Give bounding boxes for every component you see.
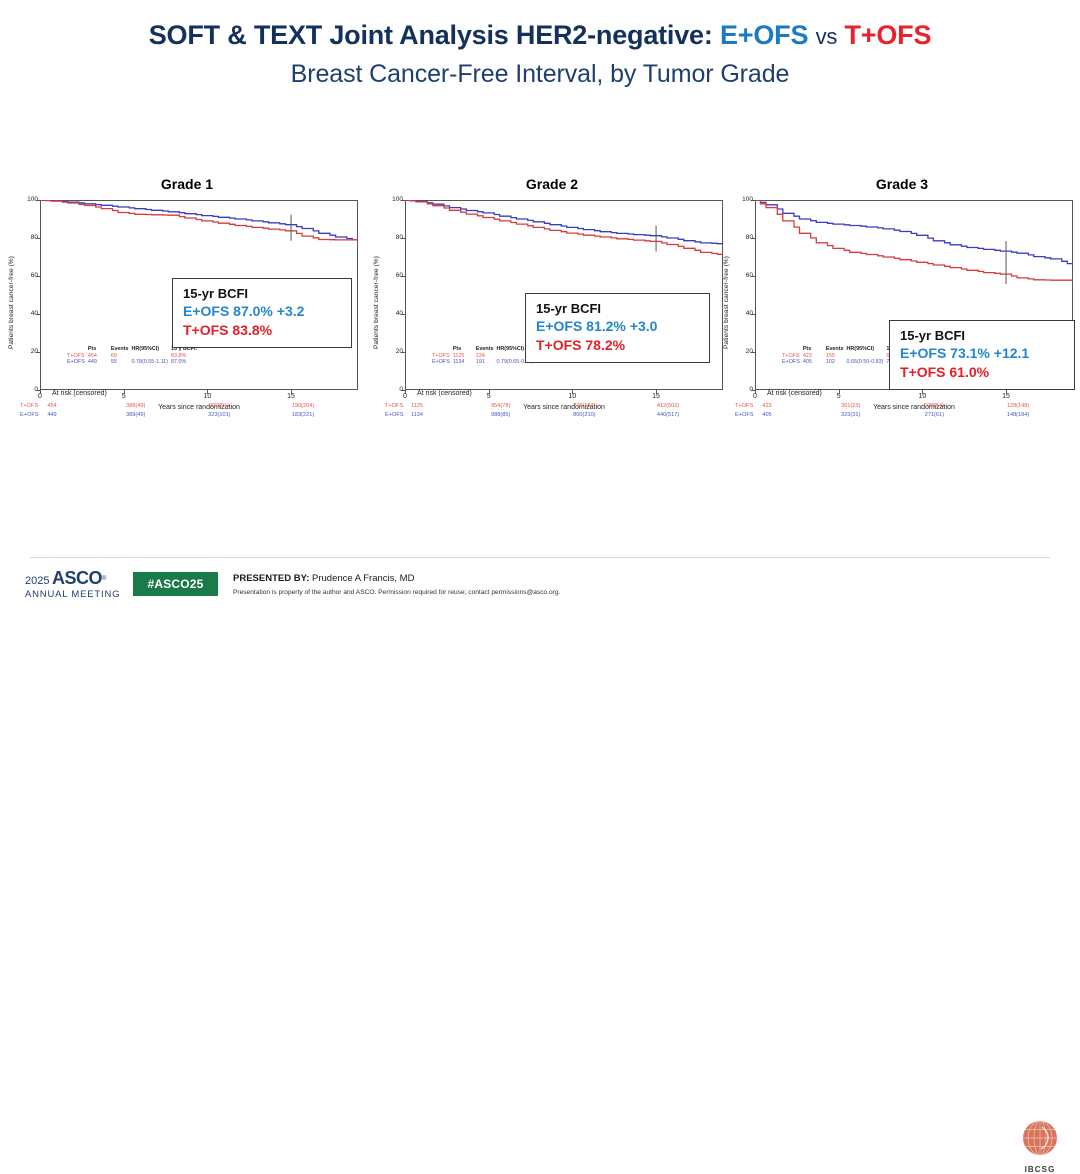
at-risk-value: 454 [47,403,56,409]
y-tick-mark [401,238,405,239]
bcfi-heading: 15-yr BCFI [183,285,341,302]
y-tick-mark [751,276,755,277]
at-risk-row-label: E+OFS [20,412,39,418]
at-risk-value: 388(49) [126,403,145,409]
at-risk-value: 323(101) [208,412,230,418]
bcfi-heading: 15-yr BCFI [900,327,1064,344]
at-risk-row-tofs: T+OFS1125954(78)779(187)412(502) [377,403,727,412]
km-curve-t-ofs [755,200,1073,280]
y-tick-label: 40 [377,310,403,317]
panel-title: Grade 2 [377,176,727,192]
stats-header-events: Events [111,346,132,353]
stats-header-hr: HR(95%CI) [132,346,171,353]
stats-tofs-bcfi: 83.8% [171,353,200,360]
stats-eofs-hr: 0.78(0.55-1.11) [132,359,171,366]
at-risk-value: 779(187) [573,403,595,409]
panel-title: Grade 3 [727,176,1077,192]
y-tick-label: 60 [377,272,403,279]
x-tick-label: 5 [487,393,491,400]
permission-notice: Presentation is property of the author a… [233,587,853,598]
at-risk-value: 271(61) [925,412,944,418]
stats-eofs-pts: 1134 [453,359,476,366]
x-tick-mark [40,390,41,394]
y-tick-label: 40 [12,310,38,317]
at-risk-value: 412(502) [657,403,679,409]
at-risk-value: 301(23) [841,403,860,409]
bcfi-callout-grade-1: 15-yr BCFI E+OFS 87.0% +3.2 T+OFS 83.8% [172,278,352,348]
y-tick-label: 100 [12,196,38,203]
x-tick-mark [489,390,490,394]
stats-header-events: Events [476,346,497,353]
x-tick-mark [1006,390,1007,394]
at-risk-value: 183(221) [292,412,314,418]
stats-eofs-pts: 449 [88,359,111,366]
presented-by-block: PRESENTED BY: Prudence A Francis, MD Pre… [233,572,853,598]
at-risk-value: 1134 [411,412,423,418]
at-risk-row-eofs: E+OFS449389(49)323(101)183(221) [12,412,362,421]
y-tick-mark [751,314,755,315]
x-tick-mark [124,390,125,394]
at-risk-value: 323(31) [841,412,860,418]
x-tick-label: 15 [287,393,295,400]
x-tick-label: 10 [918,393,926,400]
km-curve-e-ofs [755,200,1073,264]
chart-panel-grade-3: Grade 3 Patients breast cancer-free (%) … [727,176,1077,466]
at-risk-value: 405 [762,412,771,418]
y-tick-mark [36,200,40,201]
at-risk-value: 423 [762,403,771,409]
stats-row-label-tofs: T+OFS [432,353,453,360]
y-axis-label: Patients breast cancer-free (%) [8,200,20,405]
x-tick-mark [405,390,406,394]
at-risk-value: 322(91) [210,403,229,409]
bcfi-eofs-line: E+OFS 73.1% +12.1 [900,344,1064,363]
y-tick-label: 0 [377,386,403,393]
at-risk-value: 800(210) [573,412,595,418]
stats-tofs-pts: 423 [803,353,826,360]
y-tick-label: 0 [727,386,753,393]
y-axis-label: Patients breast cancer-free (%) [373,200,385,405]
hashtag-badge: #ASCO25 [133,572,218,596]
title-vs-label: vs [816,24,838,49]
plot-area: Patients breast cancer-free (%) Pts Even… [727,200,1077,405]
x-tick-label: 15 [1002,393,1010,400]
stats-eofs-events: 55 [111,359,132,366]
bcfi-tofs-line: T+OFS 61.0% [900,363,1064,382]
slide-footer: 2025 ASCO® ANNUAL MEETING #ASCO25 PRESEN… [0,566,1080,608]
x-tick-label: 5 [837,393,841,400]
stats-tofs-events: 69 [111,353,132,360]
at-risk-row-eofs: E+OFS1134988(85)800(210)440(517) [377,412,727,421]
y-tick-mark [401,352,405,353]
x-tick-mark [207,390,208,394]
y-tick-mark [751,200,755,201]
y-tick-label: 0 [12,386,38,393]
bcfi-tofs-line: T+OFS 83.8% [183,321,341,340]
stats-eofs-events: 191 [476,359,497,366]
x-tick-label: 10 [203,393,211,400]
x-tick-label: 10 [568,393,576,400]
asco-wordmark: ASCO [52,568,102,588]
at-risk-row-tofs: T+OFS454388(49)322(91)190(204) [12,403,362,412]
x-tick-label: 0 [38,393,42,400]
stats-tofs-events: 155 [826,353,847,360]
x-tick-label: 0 [403,393,407,400]
bcfi-heading: 15-yr BCFI [536,300,699,317]
plot-area: Patients breast cancer-free (%) Pts Even… [12,200,362,405]
asco-subtitle: ANNUAL MEETING [25,589,145,600]
at-risk-value: 440(517) [657,412,679,418]
stats-eofs-events: 102 [826,359,847,366]
at-risk-value: 988(85) [491,412,510,418]
x-tick-mark [839,390,840,394]
bcfi-eofs-line: E+OFS 87.0% +3.2 [183,302,341,321]
at-risk-row-label: E+OFS [735,412,754,418]
y-tick-label: 60 [12,272,38,279]
stats-table-grade-1: Pts Events HR(95%CI) 15 y BCFI: T+OFS 45… [67,346,200,366]
at-risk-title: At risk (censored) [52,390,107,397]
stats-row-label-eofs: E+OFS [67,359,88,366]
at-risk-value: 449 [47,412,56,418]
at-risk-row-eofs: E+OFS405323(31)271(61)148(184) [727,412,1077,421]
footer-divider [30,557,1050,558]
x-tick-label: 15 [652,393,660,400]
y-tick-label: 80 [377,234,403,241]
title-tofs-label: T+OFS [844,20,931,50]
globe-icon [1020,1118,1060,1158]
presenter-name: Prudence A Francis, MD [312,573,414,584]
y-tick-mark [36,238,40,239]
stats-eofs-bcfi: 87.0% [171,359,200,366]
at-risk-title: At risk (censored) [767,390,822,397]
stats-tofs-events: 234 [476,353,497,360]
title-main-text: SOFT & TEXT Joint Analysis HER2-negative… [149,20,713,50]
y-tick-label: 20 [12,348,38,355]
y-tick-mark [36,352,40,353]
asco-year: 2025 [25,575,49,587]
stats-row-label-tofs: T+OFS [782,353,803,360]
km-curve-t-ofs [40,200,358,240]
ibcsg-wordmark: IBCSG [1012,1165,1068,1174]
trademark-icon: ® [102,576,106,582]
bcfi-callout-grade-2: 15-yr BCFI E+OFS 81.2% +3.0 T+OFS 78.2% [525,293,710,363]
panel-title: Grade 1 [12,176,362,192]
stats-header-events: Events [826,346,847,353]
y-tick-mark [401,200,405,201]
at-risk-value: 128(148) [1007,403,1029,409]
stats-header-pts: Pts [453,346,476,353]
y-tick-mark [751,352,755,353]
at-risk-value: 954(78) [491,403,510,409]
y-tick-mark [36,276,40,277]
y-tick-label: 20 [727,348,753,355]
at-risk-row-label: T+OFS [735,403,753,409]
bcfi-callout-grade-3: 15-yr BCFI E+OFS 73.1% +12.1 T+OFS 61.0% [889,320,1075,390]
title-line-1: SOFT & TEXT Joint Analysis HER2-negative… [0,20,1080,51]
at-risk-value: 1125 [411,403,423,409]
stats-eofs-pts: 405 [803,359,826,366]
at-risk-row-label: T+OFS [20,403,38,409]
at-risk-row-label: T+OFS [385,403,403,409]
bcfi-eofs-line: E+OFS 81.2% +3.0 [536,317,699,336]
y-tick-mark [401,276,405,277]
x-tick-mark [572,390,573,394]
x-tick-mark [656,390,657,394]
x-tick-label: 5 [122,393,126,400]
chart-panel-grade-1: Grade 1 Patients breast cancer-free (%) … [12,176,362,466]
stats-header-hr: HR(95%CI) [847,346,887,353]
x-tick-mark [922,390,923,394]
y-tick-label: 80 [727,234,753,241]
y-tick-label: 20 [377,348,403,355]
presented-by-label: PRESENTED BY: [233,573,309,584]
at-risk-value: 238(54) [925,403,944,409]
at-risk-row-tofs: T+OFS423301(23)238(54)128(148) [727,403,1077,412]
bcfi-tofs-line: T+OFS 78.2% [536,336,699,355]
y-axis-label: Patients breast cancer-free (%) [723,200,735,405]
title-line-2: Breast Cancer-Free Interval, by Tumor Gr… [0,60,1080,89]
stats-header-pts: Pts [88,346,111,353]
ibcsg-logo: IBCSG [1012,1118,1068,1174]
asco-logo: 2025 ASCO® ANNUAL MEETING [25,571,145,600]
plot-area: Patients breast cancer-free (%) Pts Even… [377,200,727,405]
x-tick-label: 0 [753,393,757,400]
slide-title-block: SOFT & TEXT Joint Analysis HER2-negative… [0,20,1080,89]
y-tick-label: 100 [727,196,753,203]
at-risk-title: At risk (censored) [417,390,472,397]
y-tick-label: 40 [727,310,753,317]
y-tick-label: 60 [727,272,753,279]
stats-row-label-eofs: E+OFS [432,359,453,366]
at-risk-row-label: E+OFS [385,412,404,418]
km-curve-e-ofs [405,200,723,244]
y-tick-label: 80 [12,234,38,241]
y-tick-mark [36,314,40,315]
x-tick-mark [755,390,756,394]
stats-row-label-tofs: T+OFS [67,353,88,360]
at-risk-value: 190(204) [292,403,314,409]
stats-tofs-pts: 454 [88,353,111,360]
title-eofs-label: E+OFS [720,20,808,50]
stats-tofs-pts: 1125 [453,353,476,360]
y-tick-mark [401,314,405,315]
at-risk-value: 148(184) [1007,412,1029,418]
y-tick-label: 100 [377,196,403,203]
at-risk-value: 389(49) [126,412,145,418]
x-tick-mark [291,390,292,394]
stats-row-label-eofs: E+OFS [782,359,803,366]
y-tick-mark [751,238,755,239]
stats-header-pts: Pts [803,346,826,353]
chart-panel-grade-2: Grade 2 Patients breast cancer-free (%) … [377,176,727,466]
stats-tofs-hr [847,353,887,360]
stats-eofs-hr: 0.65(0.50-0.83) [847,359,887,366]
stats-tofs-hr [132,353,171,360]
